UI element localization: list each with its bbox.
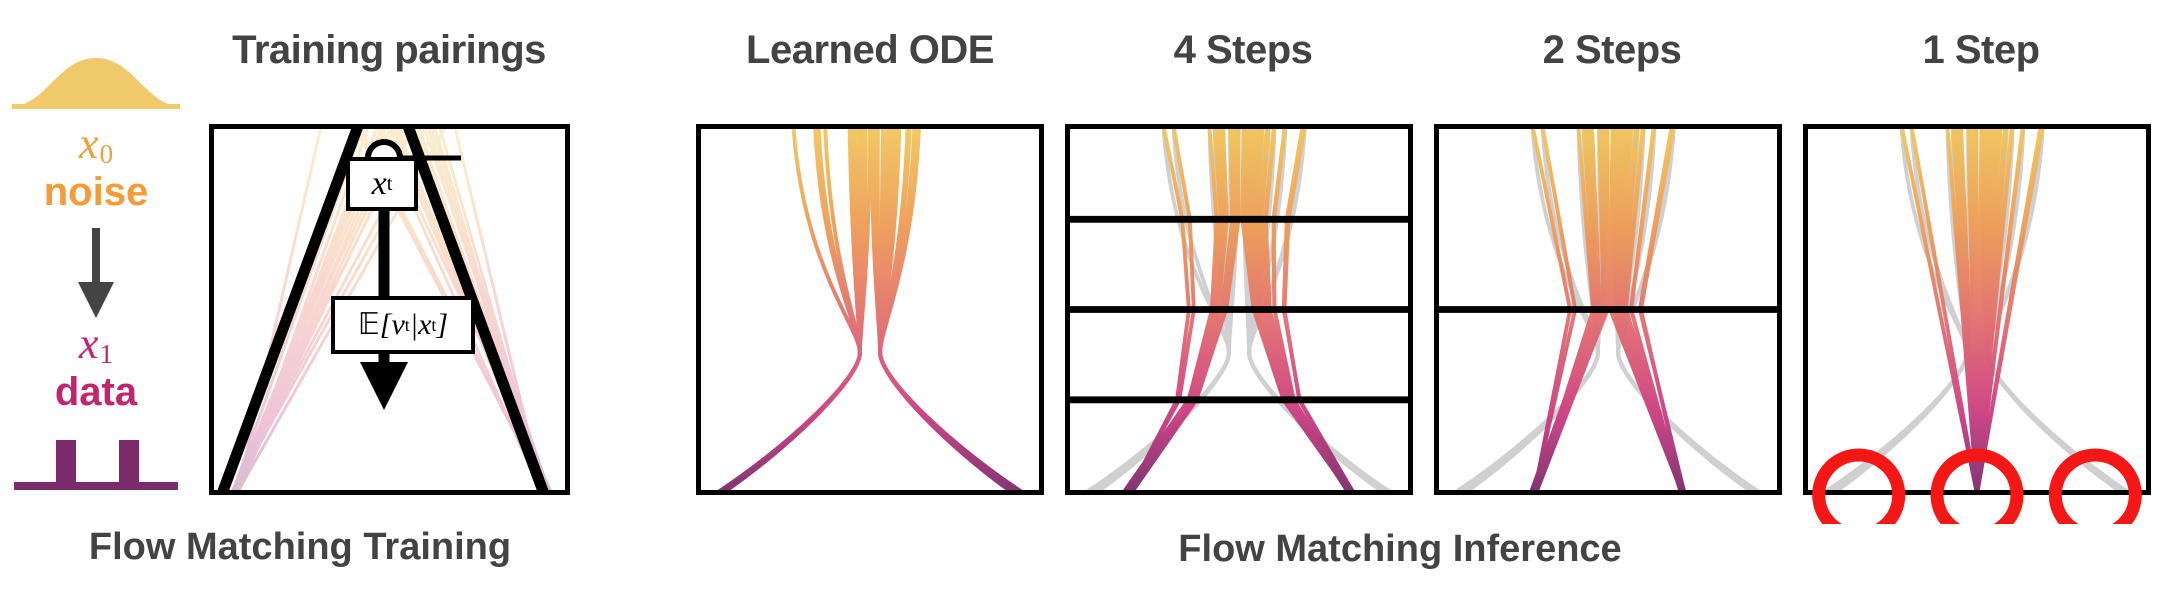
- noise-to-data-arrow-icon: [6, 226, 186, 322]
- plot-learned-ode: [696, 124, 1044, 495]
- data-variable-label: x1: [6, 322, 186, 368]
- training-caption: Flow Matching Training: [0, 528, 600, 566]
- plot-one-step: [1803, 124, 2151, 495]
- inference-caption: Flow Matching Inference: [1080, 530, 1720, 568]
- data-distribution-icon: [6, 422, 186, 494]
- step-divider-lines: [1070, 219, 1408, 400]
- flow-matching-figure: x0 noise x1 data Flow Matching Training …: [0, 0, 2182, 596]
- panel-title-4-steps: 4 Steps: [1068, 30, 1418, 70]
- data-word-label: data: [6, 372, 186, 412]
- noise-distribution-icon: [6, 44, 186, 116]
- panel-title-2-steps: 2 Steps: [1437, 30, 1787, 70]
- two-steps-canvas: [1439, 129, 1777, 490]
- annotation-expected-velocity-box: 𝔼[vt|xt]: [331, 296, 475, 354]
- plot-four-steps: [1065, 124, 1413, 495]
- panel-title-1-step: 1 Step: [1806, 30, 2156, 70]
- learned-ode-canvas: [701, 129, 1039, 490]
- annotation-xt-box: xt: [346, 157, 418, 211]
- plot-two-steps: [1434, 124, 1782, 495]
- panel-title-learned-ode: Learned ODE: [695, 30, 1045, 70]
- noise-variable-label: x0: [6, 122, 186, 168]
- panel-title-training-pairings: Training pairings: [204, 30, 574, 70]
- noise-word-label: noise: [6, 172, 186, 212]
- four-steps-canvas: [1070, 129, 1408, 490]
- training-legend-column: x0 noise x1 data: [6, 44, 186, 444]
- one-step-canvas: [1808, 129, 2146, 490]
